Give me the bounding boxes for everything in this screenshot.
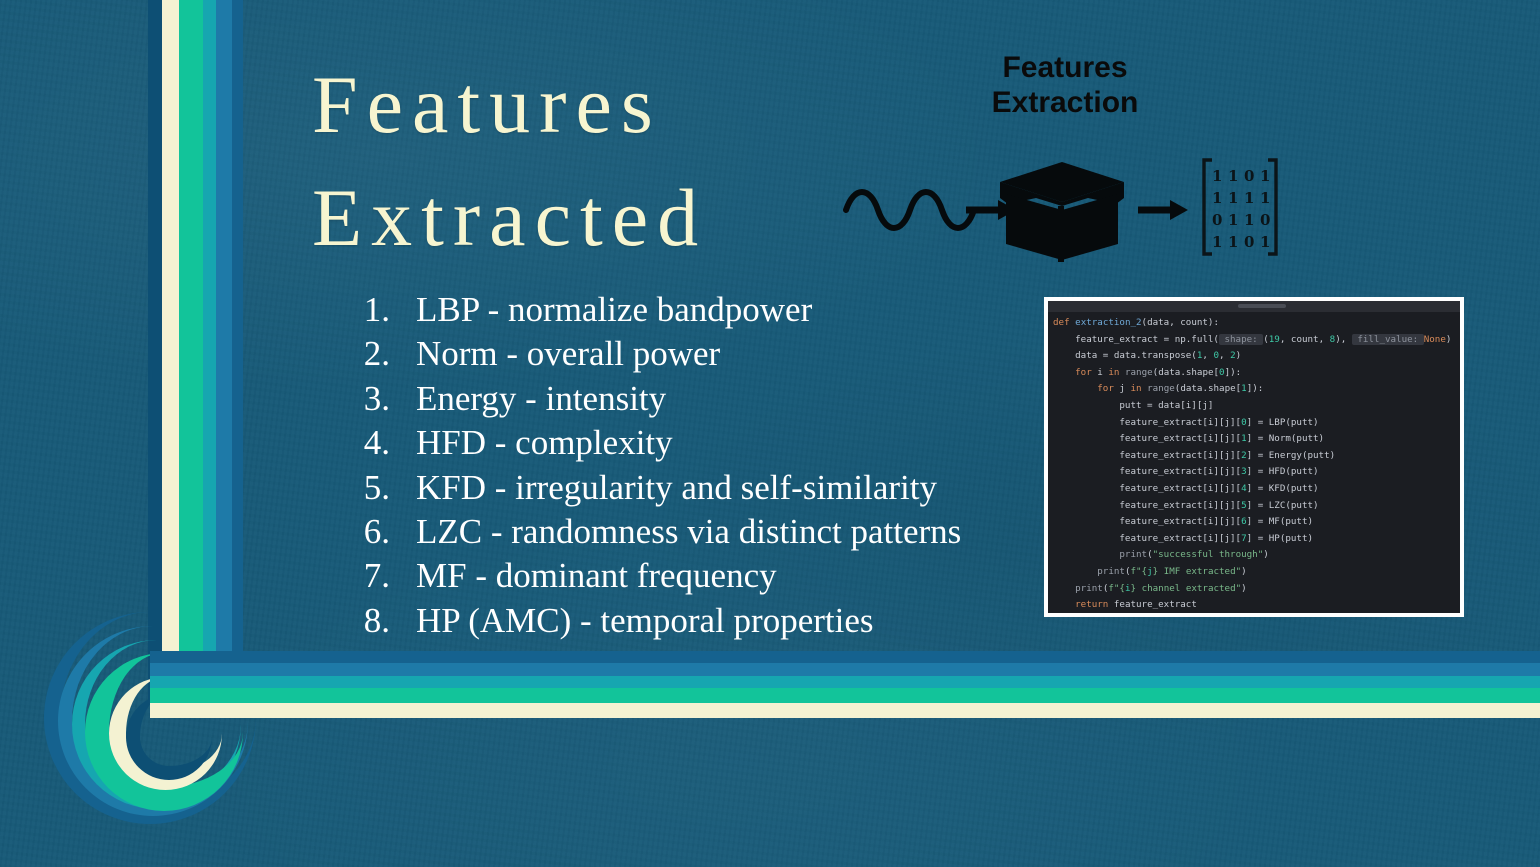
horizontal-bar-teal — [150, 676, 1540, 688]
vertical-stripe-blue — [216, 0, 232, 700]
code-line: feature_extract[i][j][2] = Energy(putt) — [1053, 448, 1460, 465]
list-item: 2. Norm - overall power — [330, 332, 961, 376]
svg-text:1: 1 — [1212, 233, 1222, 251]
vertical-stripe-green — [179, 0, 203, 700]
list-item-label: LZC - randomness via distinct patterns — [416, 510, 961, 554]
code-line: feature_extract[i][j][6] = MF(putt) — [1053, 514, 1460, 531]
code-block: def extraction_2(data, count): feature_e… — [1048, 312, 1460, 614]
code-line: data = data.transpose(1, 0, 2) — [1053, 348, 1460, 365]
list-item-number: 3. — [330, 377, 416, 421]
svg-text:1: 1 — [1260, 189, 1270, 207]
code-line: feature_extract = np.full( shape: (19, c… — [1053, 332, 1460, 349]
horizontal-bar-green — [150, 688, 1540, 703]
svg-text:1: 1 — [1212, 167, 1222, 185]
list-item: 5. KFD - irregularity and self-similarit… — [330, 466, 961, 510]
list-item: 1. LBP - normalize bandpower — [330, 288, 961, 332]
code-line: print("successful through") — [1053, 547, 1460, 564]
list-item: 3. Energy - intensity — [330, 377, 961, 421]
code-line: def extraction_2(data, count): — [1053, 315, 1460, 332]
right-arrow-icon — [1138, 200, 1188, 220]
code-line: print(f"{i} channel extracted") — [1053, 581, 1460, 598]
svg-text:1: 1 — [1260, 167, 1270, 185]
hook-ring-dark-blue — [44, 612, 256, 824]
list-item: 6. LZC - randomness via distinct pattern… — [330, 510, 961, 554]
code-line: return feature_extract — [1053, 597, 1460, 614]
horizontal-bar-blue — [150, 663, 1540, 676]
list-item-label: Norm - overall power — [416, 332, 720, 376]
svg-text:1: 1 — [1244, 189, 1254, 207]
code-line: feature_extract[i][j][3] = HFD(putt) — [1053, 464, 1460, 481]
list-item-number: 7. — [330, 554, 416, 598]
vertical-stripe-cream — [162, 0, 179, 700]
svg-text:0: 0 — [1244, 167, 1254, 185]
list-item-number: 5. — [330, 466, 416, 510]
list-item-label: MF - dominant frequency — [416, 554, 777, 598]
list-item-label: LBP - normalize bandpower — [416, 288, 812, 332]
list-item-label: HFD - complexity — [416, 421, 673, 465]
list-item-number: 8. — [330, 599, 416, 643]
vertical-stripe-dark-blue — [148, 0, 162, 700]
hook-curve-ornament — [44, 612, 294, 862]
code-line: feature_extract[i][j][4] = KFD(putt) — [1053, 481, 1460, 498]
list-item: 7. MF - dominant frequency — [330, 554, 961, 598]
svg-text:0: 0 — [1244, 233, 1254, 251]
list-item-number: 2. — [330, 332, 416, 376]
binary-matrix-values: 1101 1111 0110 1101 — [1212, 167, 1270, 251]
code-line: putt = data[i][j] — [1053, 398, 1460, 415]
list-item-label: Energy - intensity — [416, 377, 666, 421]
list-item-label: KFD - irregularity and self-similarity — [416, 466, 937, 510]
svg-text:1: 1 — [1244, 211, 1254, 229]
code-line: feature_extract[i][j][0] = LBP(putt) — [1053, 415, 1460, 432]
code-line: feature_extract[i][j][7] = HP(putt) — [1053, 531, 1460, 548]
list-item: 4. HFD - complexity — [330, 421, 961, 465]
list-item-label: HP (AMC) - temporal properties — [416, 599, 874, 643]
slide-title: Features Extracted — [312, 48, 707, 274]
code-line: print(f"{j} IMF extracted") — [1053, 564, 1460, 581]
feature-list: 1. LBP - normalize bandpower 2. Norm - o… — [330, 288, 961, 643]
svg-text:1: 1 — [1228, 233, 1238, 251]
code-line: for j in range(data.shape[1]): — [1053, 381, 1460, 398]
open-box-icon — [1000, 162, 1124, 262]
code-screenshot: def extraction_2(data, count): feature_e… — [1044, 297, 1464, 617]
svg-text:0: 0 — [1212, 211, 1222, 229]
svg-text:1: 1 — [1228, 167, 1238, 185]
svg-text:1: 1 — [1228, 189, 1238, 207]
svg-text:1: 1 — [1212, 189, 1222, 207]
list-item: 8. HP (AMC) - temporal properties — [330, 599, 961, 643]
vertical-stripe-teal — [203, 0, 216, 700]
list-item-number: 6. — [330, 510, 416, 554]
code-line: for i in range(data.shape[0]): — [1053, 365, 1460, 382]
svg-text:0: 0 — [1260, 211, 1270, 229]
features-extraction-diagram: 1101 1111 0110 1101 — [840, 148, 1280, 263]
slide-canvas: Features Extracted 1. LBP - normalize ba… — [0, 0, 1540, 867]
horizontal-bar-cream — [150, 703, 1540, 718]
horizontal-bar-dark-blue — [150, 651, 1540, 663]
clipart-heading: Features Extraction — [962, 50, 1168, 121]
list-item-number: 1. — [330, 288, 416, 332]
code-window-titlebar — [1048, 301, 1460, 312]
svg-text:1: 1 — [1260, 233, 1270, 251]
vertical-stripe-blue-inner — [232, 0, 243, 700]
list-item-number: 4. — [330, 421, 416, 465]
code-line: feature_extract[i][j][1] = Norm(putt) — [1053, 431, 1460, 448]
sine-wave-icon — [846, 192, 974, 228]
code-line: feature_extract[i][j][5] = LZC(putt) — [1053, 498, 1460, 515]
svg-text:1: 1 — [1228, 211, 1238, 229]
